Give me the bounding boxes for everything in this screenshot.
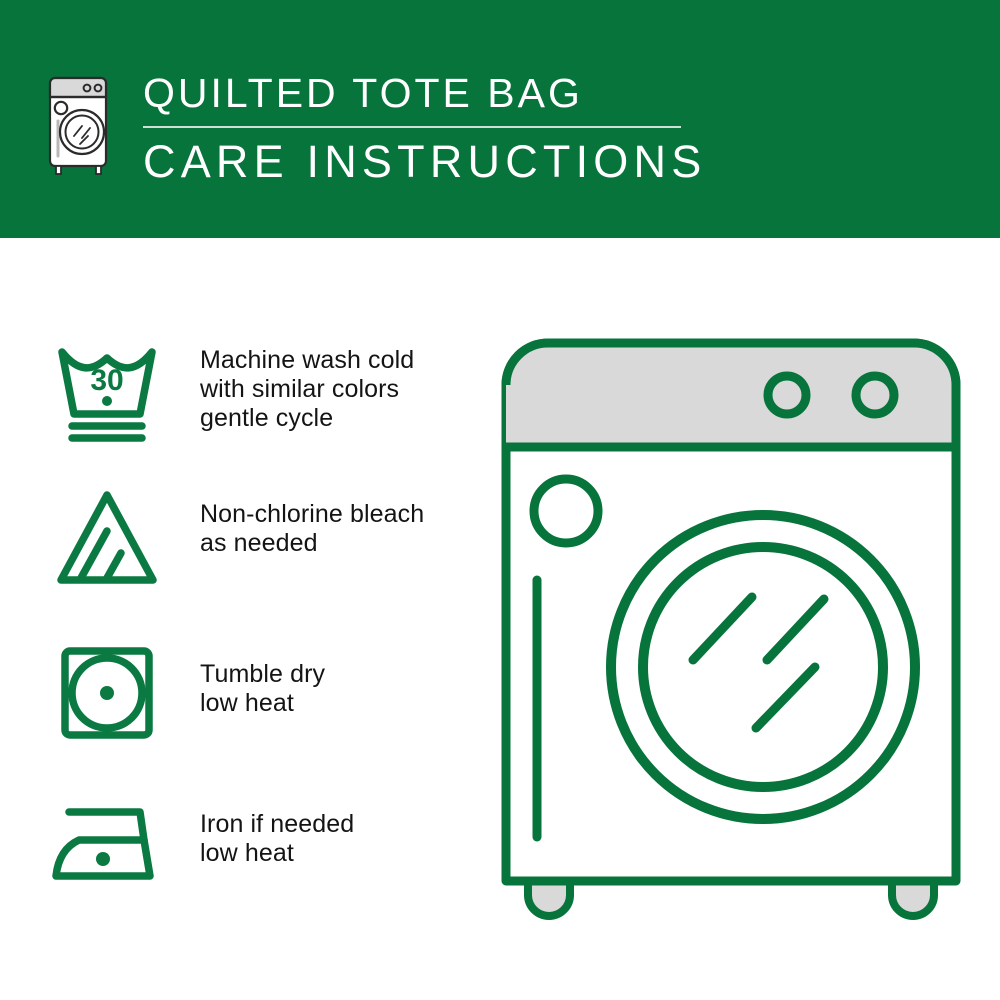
care-text-line: gentle cycle [200,404,470,433]
care-text-line: low heat [200,689,470,718]
care-row-bleach: Non-chlorine bleach as needed [0,483,470,613]
wash-temperature-label: 30 [90,364,123,397]
care-text-iron: Iron if needed low heat [200,810,470,868]
care-row-machine-wash: 30 Machine wash cold with similar colors… [0,338,470,468]
care-text-tumble-dry: Tumble dry low heat [200,660,470,718]
header-band: QUILTED TOTE BAG CARE INSTRUCTIONS [0,0,1000,238]
care-instructions-list: 30 Machine wash cold with similar colors… [0,238,470,1000]
bleach-triangle-icon [48,483,166,593]
page-title: CARE INSTRUCTIONS [143,136,703,188]
care-text-line: as needed [200,529,470,558]
care-text-line: Non-chlorine bleach [200,500,470,529]
header-divider [143,126,681,128]
care-instructions-infographic: QUILTED TOTE BAG CARE INSTRUCTIONS 30 [0,0,1000,1000]
washing-machine-icon [44,66,118,178]
care-text-bleach: Non-chlorine bleach as needed [200,500,470,558]
care-text-machine-wash: Machine wash cold with similar colors ge… [200,346,470,433]
product-title: QUILTED TOTE BAG [143,68,703,118]
wash-tub-icon: 30 [48,338,166,448]
care-text-line: low heat [200,839,470,868]
care-row-tumble-dry: Tumble dry low heat [0,638,470,768]
care-text-line: with similar colors [200,375,470,404]
header-title-block: QUILTED TOTE BAG CARE INSTRUCTIONS [143,68,703,188]
washing-machine-illustration [480,325,980,925]
iron-icon [48,796,166,906]
care-text-line: Machine wash cold [200,346,470,375]
care-text-line: Iron if needed [200,810,470,839]
care-text-line: Tumble dry [200,660,470,689]
tumble-dry-icon [48,638,166,748]
care-row-iron: Iron if needed low heat [0,788,470,918]
